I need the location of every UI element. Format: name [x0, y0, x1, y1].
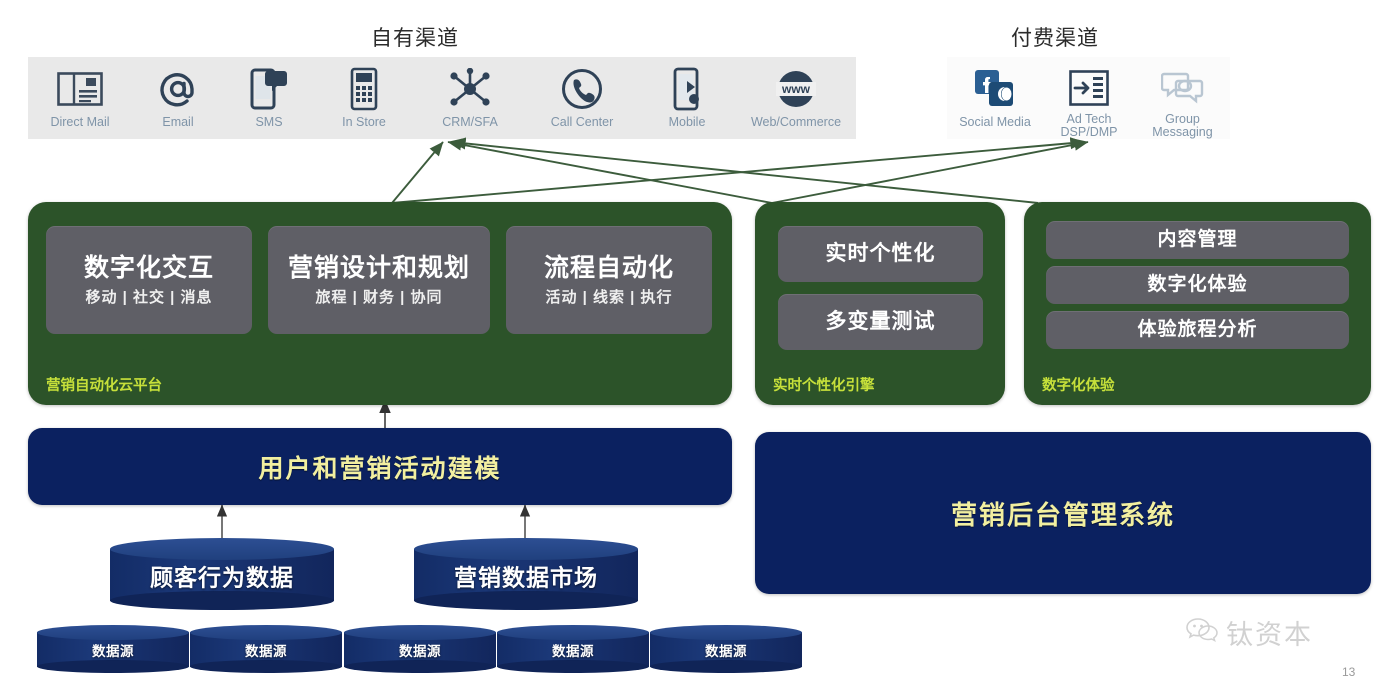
card-title: 数字化交互 [84, 253, 214, 283]
panel-label: 营销自动化云平台 [46, 374, 162, 395]
card-content-management[interactable]: 内容管理 [1046, 221, 1349, 259]
channel-label: SMS [255, 116, 282, 129]
cylinder-top [344, 625, 496, 640]
data-source-4[interactable]: 数据源 [497, 625, 649, 673]
link-platform-to-adtech [392, 142, 1084, 203]
card-digital-experience[interactable]: 数字化体验 [1046, 266, 1349, 304]
box-user-campaign-modeling[interactable]: 用户和营销活动建模 [28, 428, 732, 505]
data-source-label: 数据源 [650, 640, 802, 660]
cylinder-top [650, 625, 802, 640]
page-number: 13 [1342, 665, 1355, 679]
link-platform-to-crm [392, 142, 443, 203]
in-store-terminal-icon [348, 66, 380, 112]
cylinder-top [110, 538, 334, 560]
channel-label: Email [162, 116, 193, 129]
channel-direct-mail[interactable]: Direct Mail [28, 57, 132, 139]
card-journey-analytics[interactable]: 体验旅程分析 [1046, 311, 1349, 349]
crm-network-icon [447, 66, 493, 112]
card-title: 内容管理 [1157, 225, 1237, 255]
data-source-5[interactable]: 数据源 [650, 625, 802, 673]
data-source-2[interactable]: 数据源 [190, 625, 342, 673]
card-title: 流程自动化 [544, 253, 674, 283]
channel-label: Ad Tech DSP/DMP [1061, 113, 1118, 139]
sms-phone-icon [250, 66, 288, 112]
channel-label: CRM/SFA [442, 116, 498, 129]
cylinder-top [497, 625, 649, 640]
data-source-3[interactable]: 数据源 [344, 625, 496, 673]
paid-channel-bar: Social Media Ad Tech DSP/DMP [947, 57, 1230, 139]
channel-sms[interactable]: SMS [224, 57, 314, 139]
card-realtime-personalization[interactable]: 实时个性化 [778, 226, 983, 282]
panel-digital-experience[interactable]: 内容管理 数字化体验 体验旅程分析 数字化体验 [1024, 202, 1371, 405]
card-title: 数字化体验 [1147, 270, 1247, 300]
owned-channel-bar: Direct Mail Email SMS [28, 57, 856, 139]
card-title: 体验旅程分析 [1137, 315, 1257, 345]
box-marketing-backoffice[interactable]: 营销后台管理系统 [755, 432, 1371, 594]
cylinder-bottom [190, 660, 342, 673]
link-dx-to-crm [452, 142, 1038, 203]
cylinder-top [190, 625, 342, 640]
data-source-label: 数据源 [344, 640, 496, 660]
panel-realtime-personalization[interactable]: 实时个性化 多变量测试 实时个性化引擎 [755, 202, 1005, 405]
panel-marketing-automation-cloud[interactable]: 数字化交互 移动 | 社交 | 消息 营销设计和规划 旅程 | 财务 | 协同 … [28, 202, 732, 405]
box-label: 营销后台管理系统 [951, 495, 1175, 532]
link-rtp-to-crm [448, 142, 772, 203]
owned-channels-title: 自有渠道 [371, 22, 459, 52]
cylinder-bottom [414, 591, 638, 610]
channel-label: In Store [342, 116, 386, 129]
channel-mobile[interactable]: Mobile [638, 57, 736, 139]
card-digital-interaction[interactable]: 数字化交互 移动 | 社交 | 消息 [46, 226, 252, 334]
card-title: 实时个性化 [826, 239, 936, 269]
channel-label: Web/Commerce [751, 116, 841, 129]
cylinder-bottom [110, 591, 334, 610]
datastore-marketing-data-market[interactable]: 营销数据市场 [414, 538, 638, 610]
card-subtitle: 活动 | 线索 | 执行 [545, 286, 672, 307]
cylinder-top [37, 625, 189, 640]
channel-label: Call Center [551, 116, 614, 129]
cylinder-bottom [497, 660, 649, 673]
mobile-device-icon [671, 66, 703, 112]
datastore-label: 营销数据市场 [414, 559, 638, 593]
card-campaign-design[interactable]: 营销设计和规划 旅程 | 财务 | 协同 [268, 226, 490, 334]
wechat-bubble-icon [1185, 616, 1219, 649]
channel-label: Mobile [669, 116, 706, 129]
channel-ad-tech[interactable]: Ad Tech DSP/DMP [1043, 57, 1135, 139]
ad-tech-arrow-list-icon [1069, 66, 1109, 109]
paid-channels-title: 付费渠道 [1011, 22, 1099, 52]
data-source-label: 数据源 [37, 640, 189, 660]
data-source-label: 数据源 [190, 640, 342, 660]
channel-social-media[interactable]: Social Media [947, 57, 1043, 139]
channel-in-store[interactable]: In Store [314, 57, 414, 139]
cylinder-bottom [37, 660, 189, 673]
datastore-customer-behavior[interactable]: 顾客行为数据 [110, 538, 334, 610]
channel-label: Social Media [959, 116, 1031, 129]
channel-crm-sfa[interactable]: CRM/SFA [414, 57, 526, 139]
call-center-phone-icon [561, 66, 603, 112]
box-label: 用户和营销活动建模 [258, 449, 501, 485]
channel-group-messaging[interactable]: Group Messaging [1135, 57, 1230, 139]
cylinder-top [414, 538, 638, 560]
watermark: 钛资本 [1185, 613, 1313, 652]
data-source-1[interactable]: 数据源 [37, 625, 189, 673]
panel-label: 实时个性化引擎 [773, 374, 875, 395]
channel-email[interactable]: Email [132, 57, 224, 139]
channel-call-center[interactable]: Call Center [526, 57, 638, 139]
card-title: 多变量测试 [826, 307, 936, 337]
data-source-label: 数据源 [497, 640, 649, 660]
direct-mail-icon [57, 66, 103, 112]
svg-text:www: www [781, 82, 811, 96]
link-rtp-to-adtech [772, 142, 1088, 203]
cylinder-bottom [344, 660, 496, 673]
web-www-globe-icon: www [773, 66, 819, 112]
card-process-automation[interactable]: 流程自动化 活动 | 线索 | 执行 [506, 226, 712, 334]
datastore-label: 顾客行为数据 [110, 559, 334, 593]
facebook-social-icon [974, 66, 1016, 112]
cylinder-bottom [650, 660, 802, 673]
channel-label: Group Messaging [1152, 113, 1212, 139]
panel-label: 数字化体验 [1042, 374, 1115, 395]
card-multivariate-testing[interactable]: 多变量测试 [778, 294, 983, 350]
card-subtitle: 旅程 | 财务 | 协同 [315, 286, 442, 307]
diagram-canvas: 自有渠道 付费渠道 Direct Mail [0, 0, 1399, 688]
channel-web-commerce[interactable]: www Web/Commerce [736, 57, 856, 139]
card-title: 营销设计和规划 [288, 253, 470, 283]
group-messaging-bubbles-icon [1161, 66, 1205, 109]
email-at-icon [157, 66, 199, 112]
channel-label: Direct Mail [50, 116, 109, 129]
watermark-text: 钛资本 [1226, 613, 1313, 652]
card-subtitle: 移动 | 社交 | 消息 [85, 286, 212, 307]
